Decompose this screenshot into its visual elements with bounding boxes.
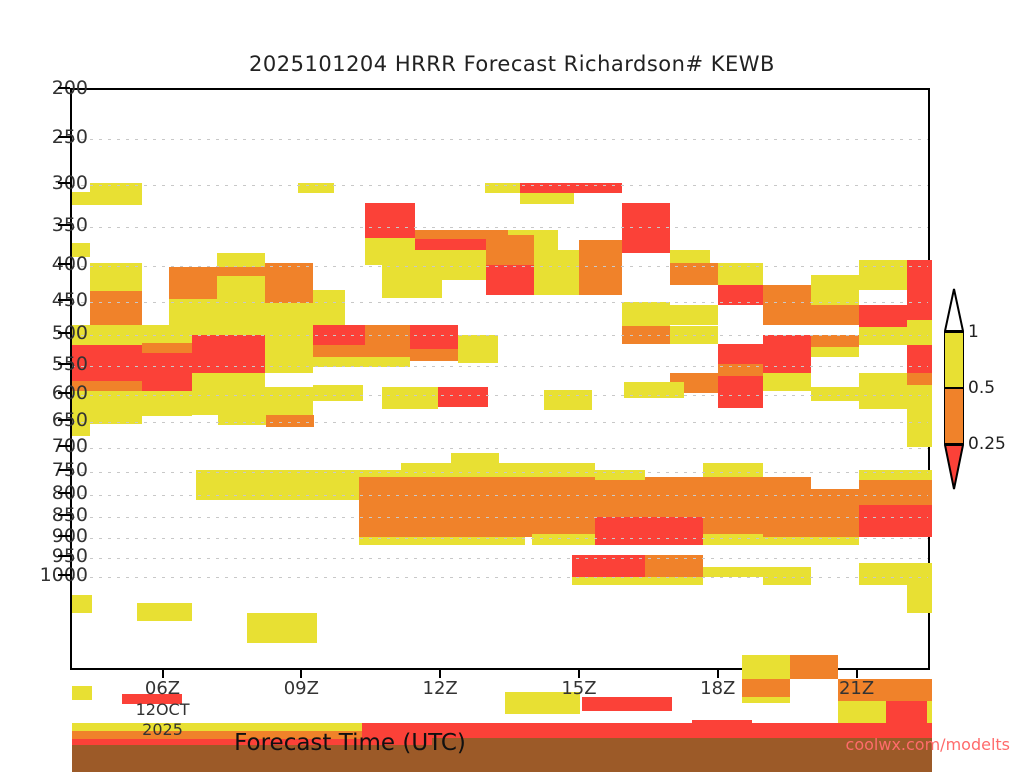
colorbar-segment [944,388,964,444]
terrain-layer [72,90,928,668]
y-axis-tick-mark [58,392,70,394]
colorbar-segment [944,332,964,388]
y-axis-tick-mark [58,87,70,89]
y-axis-tick-mark [58,263,70,265]
y-axis-tick-mark [58,514,70,516]
y-axis-tick-mark [58,363,70,365]
x-axis-tick-mark [856,670,858,678]
x-axis-tick-label: 18Z [700,678,735,699]
heatmap-cell [886,701,932,723]
watermark-link[interactable]: coolwx.com/modelts [846,735,1010,754]
y-axis-tick-mark [58,182,70,184]
heatmap-cell [72,686,92,700]
colorbar-tick-label: 1 [968,322,979,342]
colorbar-legend: 10.50.25 [944,332,964,444]
y-axis-tick-mark [58,555,70,557]
x-axis-tick-label: 15Z [561,678,596,699]
x-axis-tick-label: 21Z [839,678,874,699]
y-axis-tick-mark [58,492,70,494]
heatmap-cell [927,701,932,723]
y-axis-tick-mark [58,136,70,138]
colorbar-tick-label: 0.5 [968,378,995,398]
x-axis-tick-label: 12Z [423,678,458,699]
page-title: 2025101204 HRRR Forecast Richardson# KEW… [0,52,1024,76]
colorbar-lower-arrow [944,444,964,490]
x-axis-tick-label: 09Z [284,678,319,699]
y-axis-tick-mark [58,224,70,226]
heatmap-cell [742,679,790,697]
y-axis-tick-mark [58,332,70,334]
x-axis-tick-mark [300,670,302,678]
y-axis-tick-mark [58,419,70,421]
heatmap-cell [582,697,672,711]
y-axis-tick-mark [58,445,70,447]
x-axis-tick-mark [439,670,441,678]
x-axis-tick-label: 06Z [145,678,180,699]
y-axis-tick-mark [58,535,70,537]
x-axis-tick-mark [717,670,719,678]
x-axis-date-line1: 12OCT [136,700,190,720]
y-axis-tick-mark [58,469,70,471]
chart-plot-area [70,88,930,670]
colorbar-tick-label: 0.25 [968,434,1006,454]
x-axis-title: Forecast Time (UTC) [0,730,700,756]
x-axis-tick-mark [162,670,164,678]
colorbar-upper-arrow [944,288,964,332]
heatmap-cell [838,701,886,723]
y-axis-tick-mark [58,299,70,301]
y-axis-tick-mark [58,574,70,576]
heatmap-cell [742,697,790,703]
x-axis-tick-mark [578,670,580,678]
